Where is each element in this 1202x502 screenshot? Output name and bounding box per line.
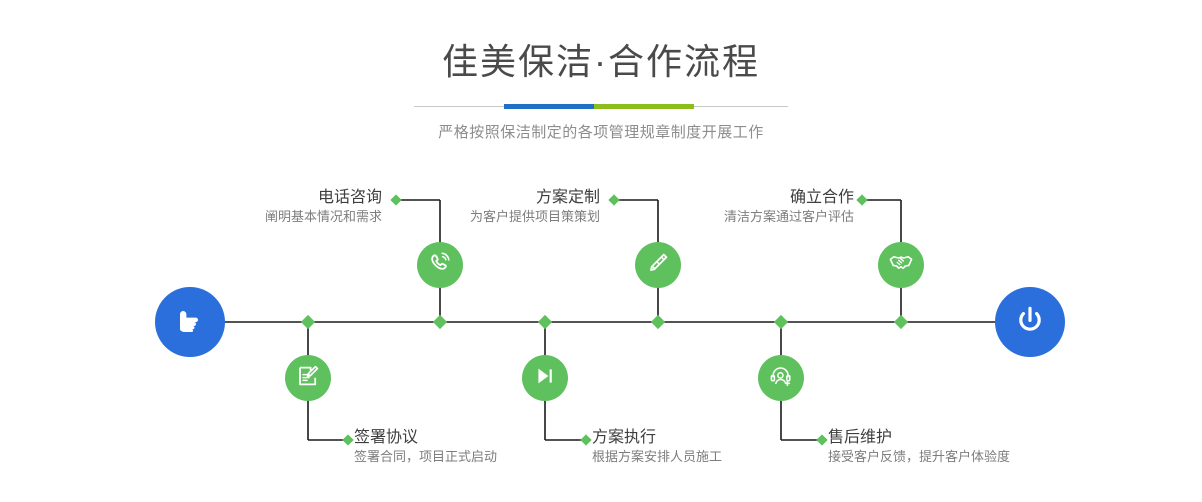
step-title: 签署协议 [354,428,497,448]
step-node-execute[interactable] [522,355,568,401]
step-title: 电话咨询 [265,188,382,208]
step-label-top-2: 方案定制 为客户提供项目策策划 [470,188,600,226]
pointing-hand-icon [170,300,210,345]
step-node-handshake[interactable] [878,242,924,288]
flow-end-node[interactable] [995,287,1065,357]
play-next-icon [532,363,558,394]
phone-call-icon [427,250,453,281]
step-desc: 清洁方案通过客户评估 [724,208,854,226]
step-node-plan[interactable] [635,242,681,288]
step-label-bottom-3: 售后维护 接受客户反馈，提升客户体验度 [828,428,1010,466]
document-sign-icon [295,363,321,394]
step-desc: 阐明基本情况和需求 [265,208,382,226]
step-desc: 签署合同，项目正式启动 [354,448,497,466]
step-node-phone[interactable] [417,242,463,288]
step-title: 方案定制 [470,188,600,208]
step-title: 方案执行 [592,428,722,448]
step-node-support[interactable] [758,355,804,401]
step-desc: 为客户提供项目策策划 [470,208,600,226]
step-node-sign[interactable] [285,355,331,401]
step-title: 确立合作 [724,188,854,208]
step-title: 售后维护 [828,428,1010,448]
step-label-top-1: 电话咨询 阐明基本情况和需求 [265,188,382,226]
step-label-bottom-1: 签署协议 签署合同，项目正式启动 [354,428,497,466]
flow-diagram: 电话咨询 阐明基本情况和需求 方案定制 为客户提供项目策策划 [0,0,1202,502]
step-desc: 接受客户反馈，提升客户体验度 [828,448,1010,466]
flow-infographic: 佳美保洁·合作流程 严格按照保洁制定的各项管理规章制度开展工作 [0,0,1202,502]
connector-wires [0,0,1202,502]
power-icon [1010,300,1050,345]
step-desc: 根据方案安排人员施工 [592,448,722,466]
pencil-edit-icon [645,250,671,281]
flow-start-node[interactable] [155,287,225,357]
step-label-bottom-2: 方案执行 根据方案安排人员施工 [592,428,722,466]
headset-support-icon [768,363,794,394]
step-label-top-3: 确立合作 清洁方案通过客户评估 [724,188,854,226]
handshake-icon [887,249,915,282]
